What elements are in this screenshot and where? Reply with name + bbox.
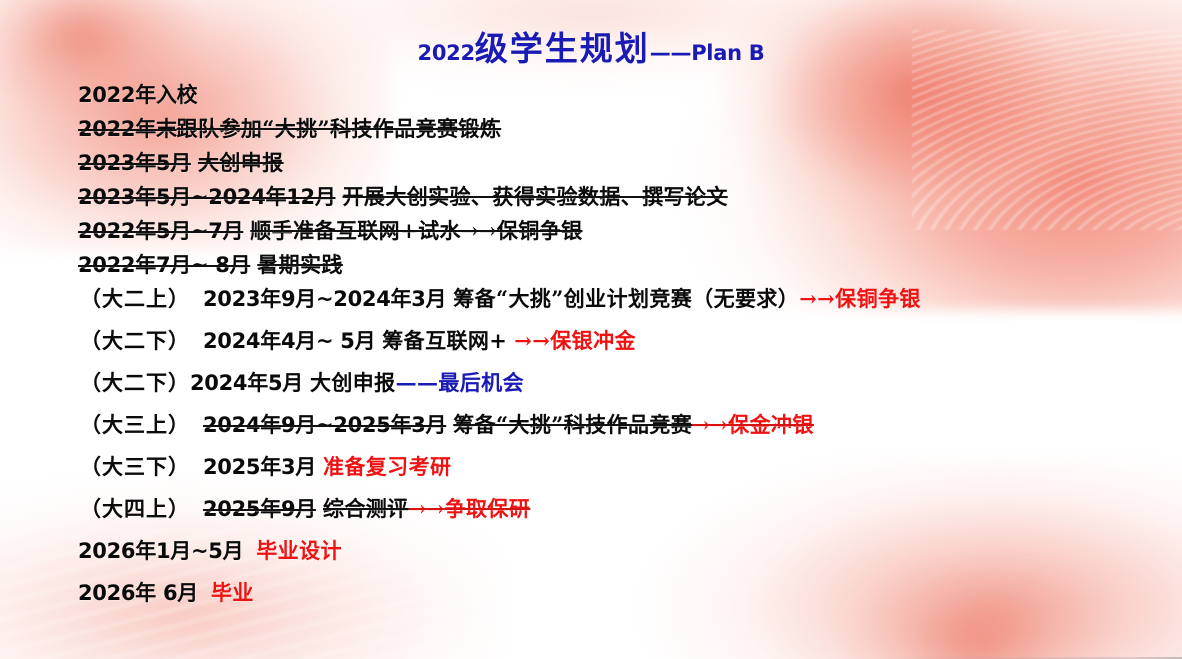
line-8-grade-prefix: （大二下） xyxy=(80,328,190,353)
line-2-content: 2022年末跟队参加“大挑”科技作品竞赛锻炼 xyxy=(78,117,501,141)
title-dash: —— xyxy=(650,41,691,65)
line-10-date: 2024年9月~2025年3月 xyxy=(203,413,446,437)
list-item: 2023年5月大创申报 xyxy=(0,152,1182,186)
presentation-slide: 2022级学生规划——Plan B 2022年入校 2022年末跟队参加“大挑”… xyxy=(0,0,1182,659)
line-14-result: 毕业 xyxy=(211,580,254,605)
line-7-grade-prefix: （大二上） xyxy=(80,286,190,311)
line-10-result: →→保金冲银 xyxy=(692,412,814,437)
line-5-body: 顺手准备互联网+试水→→保铜争银 xyxy=(250,218,582,243)
line-1-date: 2022年入校 xyxy=(78,83,197,107)
title-year: 2022 xyxy=(418,41,475,65)
list-item: 2026年1月~5月毕业设计 xyxy=(0,540,1182,582)
line-12-date: 2025年9月 xyxy=(203,497,316,521)
line-6-body: 暑期实践 xyxy=(257,252,343,277)
line-7-body: 筹备“大挑”创业计划竞赛（无要求） xyxy=(453,286,799,311)
line-6-date: 2022年7月~ 8月 xyxy=(78,253,250,277)
list-item: 2026年 6月毕业 xyxy=(0,582,1182,624)
list-item: （大二下）2024年5月大创申报——最后机会 xyxy=(0,372,1182,414)
line-8-date: 2024年4月~ 5月 xyxy=(203,329,375,353)
timeline-list: 2022年入校 2022年末跟队参加“大挑”科技作品竞赛锻炼 2023年5月大创… xyxy=(0,84,1182,624)
line-10-body: 筹备“大挑”科技作品竞赛 xyxy=(453,412,692,437)
line-9-grade-prefix: （大二下） xyxy=(80,370,190,395)
list-item: 2022年末跟队参加“大挑”科技作品竞赛锻炼 xyxy=(0,118,1182,152)
line-12-result: →→争取保研 xyxy=(409,496,531,521)
line-2-body: 跟队参加“大挑”科技作品竞赛锻炼 xyxy=(177,116,502,141)
line-9-result: ——最后机会 xyxy=(396,370,524,395)
line-12-body: 综合测评 xyxy=(323,496,409,521)
line-6-content: 2022年7月~ 8月暑期实践 xyxy=(78,253,343,277)
list-item: （大四上）2025年9月综合测评→→争取保研 xyxy=(0,498,1182,540)
line-3-date: 2023年5月 xyxy=(78,151,191,175)
line-3-body: 大创申报 xyxy=(198,150,284,175)
line-4-body: 开展大创实验、获得实验数据、撰写论文 xyxy=(343,184,728,209)
line-7-date: 2023年9月~2024年3月 xyxy=(203,287,446,311)
slide-title: 2022级学生规划——Plan B xyxy=(0,22,1182,70)
line-8-body: 筹备互联网+ xyxy=(382,328,507,353)
list-item: 2022年5月~7月顺手准备互联网+试水→→保铜争银 xyxy=(0,220,1182,254)
list-item: （大三上）2024年9月~2025年3月筹备“大挑”科技作品竞赛→→保金冲银 xyxy=(0,414,1182,456)
list-item: 2022年7月~ 8月暑期实践 xyxy=(0,254,1182,288)
list-item: （大二下）2024年4月~ 5月筹备互联网+→→保银冲金 xyxy=(0,330,1182,372)
line-11-grade-prefix: （大三下） xyxy=(80,454,190,479)
line-10-grade-prefix: （大三上） xyxy=(80,412,190,437)
line-9-date: 2024年5月 xyxy=(190,371,303,395)
list-item: 2022年入校 xyxy=(0,84,1182,118)
line-11-result: 准备复习考研 xyxy=(323,454,451,479)
list-item: （大三下）2025年3月准备复习考研 xyxy=(0,456,1182,498)
title-subject: 级学生规划 xyxy=(475,29,650,68)
line-11-date: 2025年3月 xyxy=(203,455,316,479)
line-13-result: 毕业设计 xyxy=(256,538,342,563)
line-3-content: 2023年5月大创申报 xyxy=(78,151,284,175)
line-12-grade-prefix: （大四上） xyxy=(80,496,190,521)
line-10-content: 2024年9月~2025年3月筹备“大挑”科技作品竞赛→→保金冲银 xyxy=(203,413,814,437)
line-14-date: 2026年 6月 xyxy=(78,581,198,605)
line-8-result: →→保银冲金 xyxy=(514,328,636,353)
line-13-date: 2026年1月~5月 xyxy=(78,539,243,563)
line-12-content: 2025年9月综合测评→→争取保研 xyxy=(203,497,530,521)
slide-content: 2022级学生规划——Plan B 2022年入校 2022年末跟队参加“大挑”… xyxy=(0,0,1182,659)
line-7-result: →→保铜争银 xyxy=(799,286,921,311)
line-4-date: 2023年5月~2024年12月 xyxy=(78,185,336,209)
line-5-content: 2022年5月~7月顺手准备互联网+试水→→保铜争银 xyxy=(78,219,582,243)
list-item: （大二上）2023年9月~2024年3月筹备“大挑”创业计划竞赛（无要求）→→保… xyxy=(0,288,1182,330)
list-item: 2023年5月~2024年12月开展大创实验、获得实验数据、撰写论文 xyxy=(0,186,1182,220)
line-4-content: 2023年5月~2024年12月开展大创实验、获得实验数据、撰写论文 xyxy=(78,185,728,209)
line-2-date: 2022年末 xyxy=(78,117,177,141)
line-5-date: 2022年5月~7月 xyxy=(78,219,243,243)
title-plan-label: Plan B xyxy=(691,41,764,65)
line-9-body: 大创申报 xyxy=(310,370,396,395)
